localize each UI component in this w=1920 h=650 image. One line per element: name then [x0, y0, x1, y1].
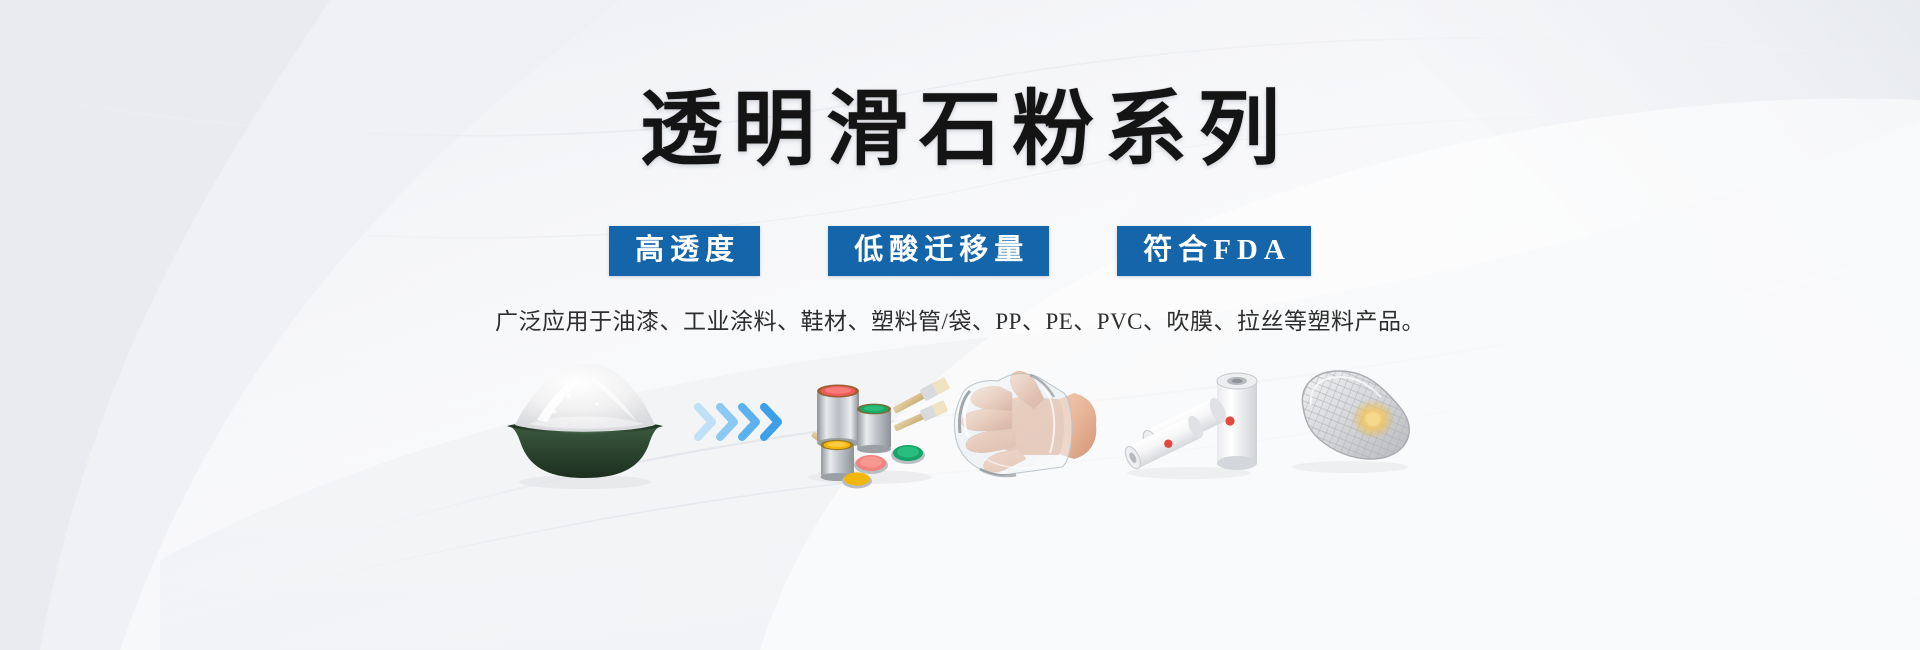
talc-powder-bowl-icon — [485, 352, 685, 492]
plastic-film-rolls-icon — [1117, 363, 1263, 481]
paint-lid-pink — [854, 455, 888, 474]
gallery-item-process-arrows — [685, 352, 795, 492]
banner-description: 广泛应用于油漆、工业涂料、鞋材、塑料管/袋、PP、PE、PVC、吹膜、拉丝等塑料… — [0, 306, 1920, 338]
plastic-glove-hand-icon — [946, 363, 1114, 481]
status-badge-low-acid-migration: 低酸迁移量 — [828, 226, 1049, 276]
feature-badge-group: 高透度 低酸迁移量 符合FDA — [0, 226, 1920, 276]
gallery-item-talc-powder-bowl — [485, 352, 685, 492]
paint-lid-green — [891, 445, 925, 464]
application-gallery — [0, 352, 1920, 492]
status-badge-fda-compliant: 符合FDA — [1117, 226, 1311, 276]
paint-can-red — [817, 385, 859, 449]
gallery-item-plastic-glove-hand — [945, 352, 1115, 492]
status-badge-high-transparency: 高透度 — [609, 226, 760, 276]
paint-cans-icon — [795, 357, 945, 487]
banner-title: 透明滑石粉系列 — [0, 82, 1920, 178]
product-banner: 透明滑石粉系列 高透度 低酸迁移量 符合FDA 广泛应用于油漆、工业涂料、鞋材、… — [0, 0, 1920, 650]
gallery-item-shoe-sole — [1265, 352, 1435, 492]
gallery-item-plastic-film-rolls — [1115, 352, 1265, 492]
gallery-item-paint-cans — [795, 352, 945, 492]
chevron-arrows-icon — [692, 399, 788, 445]
paint-can-green — [857, 404, 891, 454]
shoe-sole-icon — [1275, 363, 1425, 481]
